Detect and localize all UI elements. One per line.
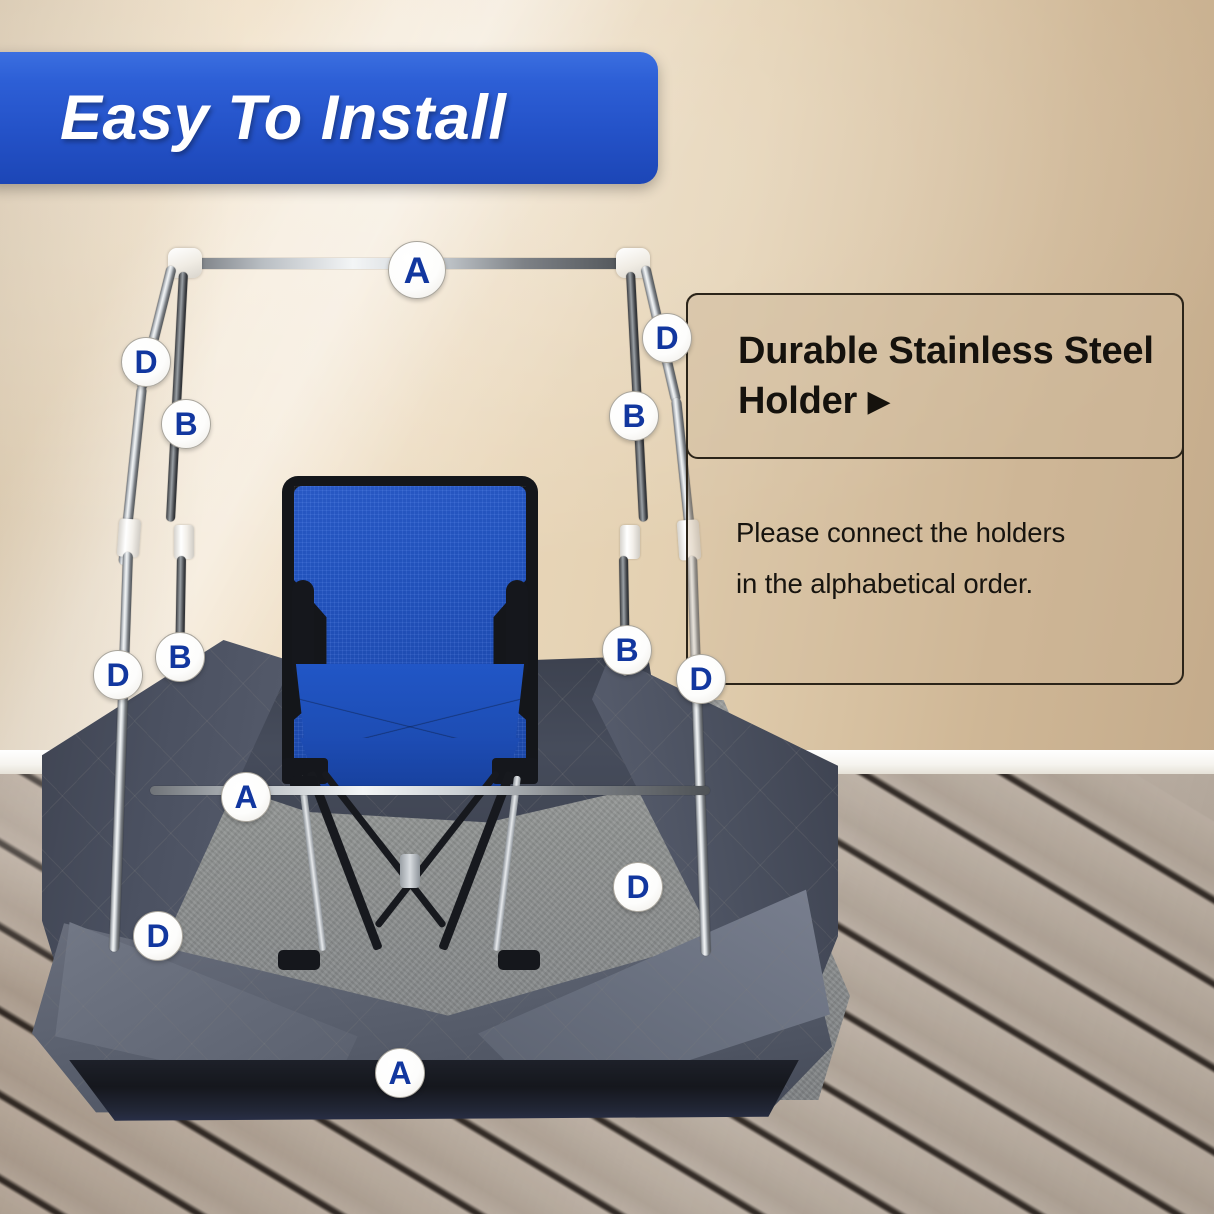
badge-d-mid-left: D [93, 650, 143, 700]
badge-a-mid-left: A [221, 772, 271, 822]
callout-title: Durable Stainless Steel Holder ▶ [738, 326, 1182, 426]
badge-d-upper-left: D [121, 337, 171, 387]
badge-d-upper-right: D [642, 313, 692, 363]
callout-body-line-1: Please connect the holders [736, 508, 1146, 559]
badge-b-upper-right: B [609, 391, 659, 441]
badge-d-lower-left: D [133, 911, 183, 961]
bed-bottom-trim [54, 1060, 814, 1126]
infographic-canvas: Easy To Install Durable Stainless Steel … [0, 0, 1214, 1214]
badge-a-top-crossbar: A [388, 241, 446, 299]
callout-body: Please connect the holders in the alphab… [736, 508, 1146, 610]
chair-foot-left [278, 950, 320, 970]
badge-b-upper-left: B [161, 399, 211, 449]
folding-camp-chair [276, 476, 544, 986]
holder-left-inner-sleeve [174, 525, 194, 559]
headline-text: Easy To Install [60, 82, 506, 154]
chair-foot-right [498, 950, 540, 970]
badge-b-mid-left: B [155, 632, 205, 682]
callout-title-box: Durable Stainless Steel Holder ▶ [686, 293, 1184, 459]
badge-d-lower-right: D [613, 862, 663, 912]
holder-right-inner-sleeve [620, 525, 640, 559]
callout-body-line-2: in the alphabetical order. [736, 559, 1146, 610]
callout-title-text: Durable Stainless Steel Holder [738, 330, 1154, 422]
badge-b-mid-right: B [602, 625, 652, 675]
badge-d-mid-right: D [676, 654, 726, 704]
badge-a-bottom-front: A [375, 1048, 425, 1098]
play-arrow-icon: ▶ [868, 385, 891, 418]
chair-leg-hub [400, 854, 420, 888]
headline-banner: Easy To Install [0, 52, 658, 184]
